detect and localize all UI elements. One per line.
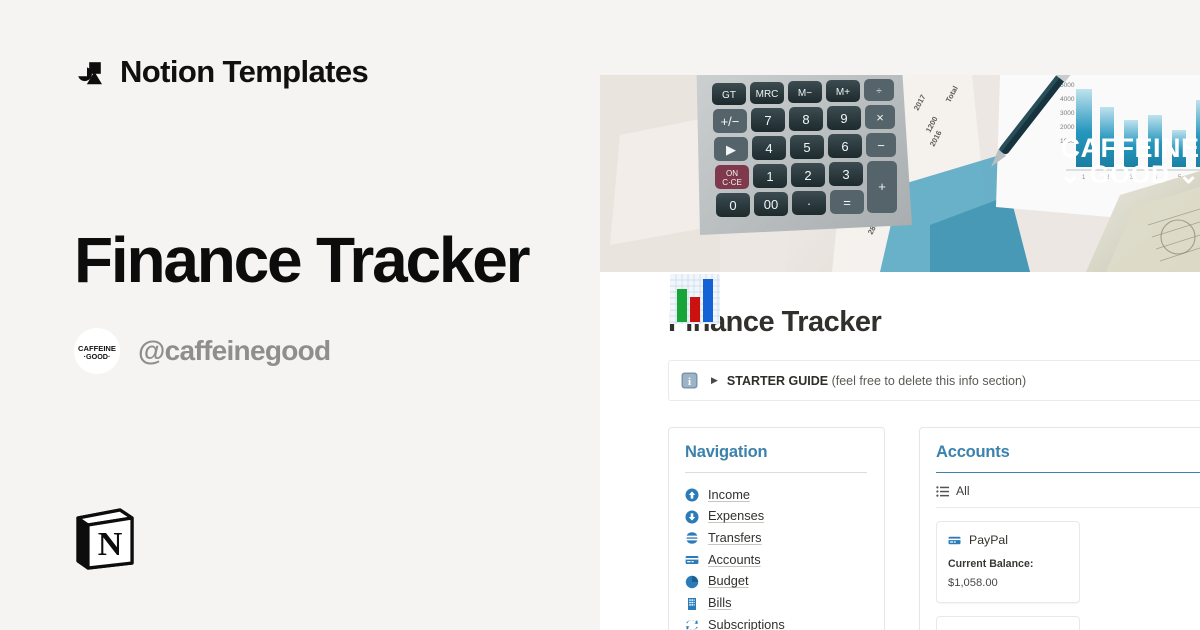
nav-item-accounts[interactable]: Accounts (685, 549, 867, 571)
svg-text:·GOOD·: ·GOOD· (84, 352, 111, 361)
cover-watermark-line1: CAFFEINE (1061, 133, 1200, 163)
svg-text:N: N (98, 526, 123, 563)
accounts-panel: Accounts (919, 427, 1200, 630)
author-handle: @caffeinegood (138, 337, 330, 365)
list-view-icon (936, 485, 949, 498)
nav-item-income[interactable]: Income (685, 484, 867, 506)
callout-text: STARTER GUIDE (feel free to delete this … (727, 373, 1026, 389)
cover-image: FOODS CORN PEANUT CHICK 120 100 85 2017 … (600, 75, 1200, 272)
account-name: PayPal (969, 533, 1008, 547)
nav-item-budget[interactable]: Budget (685, 571, 867, 593)
svg-text:1: 1 (766, 169, 773, 184)
panel-columns: Navigation Income (668, 427, 1200, 630)
arrow-down-circle-icon (685, 510, 699, 524)
nav-label: Accounts (708, 553, 761, 568)
svg-text:×: × (876, 110, 884, 125)
nav-label: Expenses (708, 509, 764, 524)
svg-text:00: 00 (764, 197, 778, 212)
svg-text:i: i (688, 376, 691, 388)
svg-text:2: 2 (804, 168, 811, 183)
balance-value: $1,058.00 (948, 577, 1068, 589)
svg-text:C·CE: C·CE (722, 178, 742, 187)
template-preview-panel: FOODS CORN PEANUT CHICK 120 100 85 2017 … (600, 0, 1200, 630)
bar-chart-emoji-icon (668, 272, 722, 326)
nav-item-transfers[interactable]: Transfers (685, 528, 867, 550)
info-emoji-icon: i (681, 372, 698, 389)
nav-label: Bills (708, 596, 731, 611)
account-card-header: PayPal (948, 533, 1068, 547)
transfer-arrows-icon (685, 531, 699, 545)
author-row[interactable]: CAFFEINE ·GOOD· @caffeinegood (74, 328, 330, 374)
nav-item-bills[interactable]: Bills (685, 593, 867, 615)
toggle-arrow-icon[interactable]: ▶ (711, 376, 718, 385)
svg-text:7: 7 (764, 113, 771, 128)
brand-title: Notion Templates (120, 56, 368, 87)
view-label: All (956, 484, 970, 498)
svg-text:4000: 4000 (1060, 96, 1075, 103)
arrow-up-circle-icon (685, 488, 699, 502)
account-cards: PayPal Current Balance: $1,058.00 (936, 521, 1200, 630)
pie-chart-icon (685, 575, 699, 589)
navigation-list: Income Expenses (685, 484, 867, 630)
recycle-arrows-icon (685, 618, 699, 630)
cover-watermark-line2: ⌄ GOOD ⌄ (1060, 161, 1200, 189)
svg-text:GT: GT (722, 90, 736, 101)
accounts-heading: Accounts (936, 443, 1200, 473)
notion-logo-icon: N (74, 505, 136, 571)
svg-text:8: 8 (802, 112, 809, 127)
nav-label: Budget (708, 574, 749, 589)
callout-note: (feel free to delete this info section) (828, 374, 1026, 388)
svg-text:M+: M+ (836, 87, 850, 98)
svg-text:3000: 3000 (1060, 110, 1075, 117)
navigation-heading: Navigation (685, 443, 867, 473)
notion-page-preview: FOODS CORN PEANUT CHICK 120 100 85 2017 … (600, 75, 1200, 630)
svg-text:5: 5 (803, 140, 810, 155)
database-view-tab-all[interactable]: All (936, 484, 1200, 508)
svg-text:2000: 2000 (1060, 124, 1075, 131)
svg-text:=: = (843, 195, 851, 210)
svg-text:6: 6 (841, 139, 848, 154)
starter-guide-callout[interactable]: i ▶ STARTER GUIDE (feel free to delete t… (668, 360, 1200, 401)
nav-item-subscriptions[interactable]: Subscriptions (685, 614, 867, 630)
navigation-panel: Navigation Income (668, 427, 885, 630)
template-preview-card: Notion Templates Finance Tracker CAFFEIN… (0, 0, 1200, 630)
nav-label: Subscriptions (708, 618, 785, 630)
svg-text:0: 0 (729, 198, 736, 213)
nav-label: Transfers (708, 531, 762, 546)
nav-item-expenses[interactable]: Expenses (685, 506, 867, 528)
svg-text:ON: ON (726, 169, 738, 178)
svg-text:MRC: MRC (756, 89, 779, 100)
credit-card-icon (685, 553, 699, 567)
credit-card-icon (948, 534, 961, 547)
nav-label: Income (708, 488, 750, 503)
svg-text:9: 9 (840, 111, 847, 126)
account-card[interactable]: Bank A Current Balance: $3,474.51 (936, 616, 1080, 630)
svg-text:÷: ÷ (876, 86, 882, 97)
notion-templates-logo-icon (76, 57, 106, 87)
svg-text:−: − (877, 138, 885, 153)
svg-text:4: 4 (765, 141, 772, 156)
brand-header: Notion Templates (76, 56, 368, 87)
balance-label: Current Balance: (948, 558, 1068, 570)
svg-text:M−: M− (798, 88, 812, 99)
notion-page-body: Finance Tracker i ▶ STARTER GUIDE (feel … (600, 306, 1200, 630)
building-icon (685, 597, 699, 611)
svg-text:▶: ▶ (726, 142, 736, 157)
notion-page-title: Finance Tracker (668, 306, 1200, 339)
account-card[interactable]: PayPal Current Balance: $1,058.00 (936, 521, 1080, 603)
left-info-panel: Notion Templates Finance Tracker CAFFEIN… (0, 0, 600, 630)
svg-text:+: + (878, 179, 886, 194)
svg-text:+/−: +/− (721, 114, 740, 129)
callout-title: STARTER GUIDE (727, 374, 828, 388)
svg-text:3: 3 (842, 167, 849, 182)
svg-text:·: · (807, 196, 811, 211)
avatar: CAFFEINE ·GOOD· (74, 328, 120, 374)
page-title: Finance Tracker (74, 228, 528, 293)
